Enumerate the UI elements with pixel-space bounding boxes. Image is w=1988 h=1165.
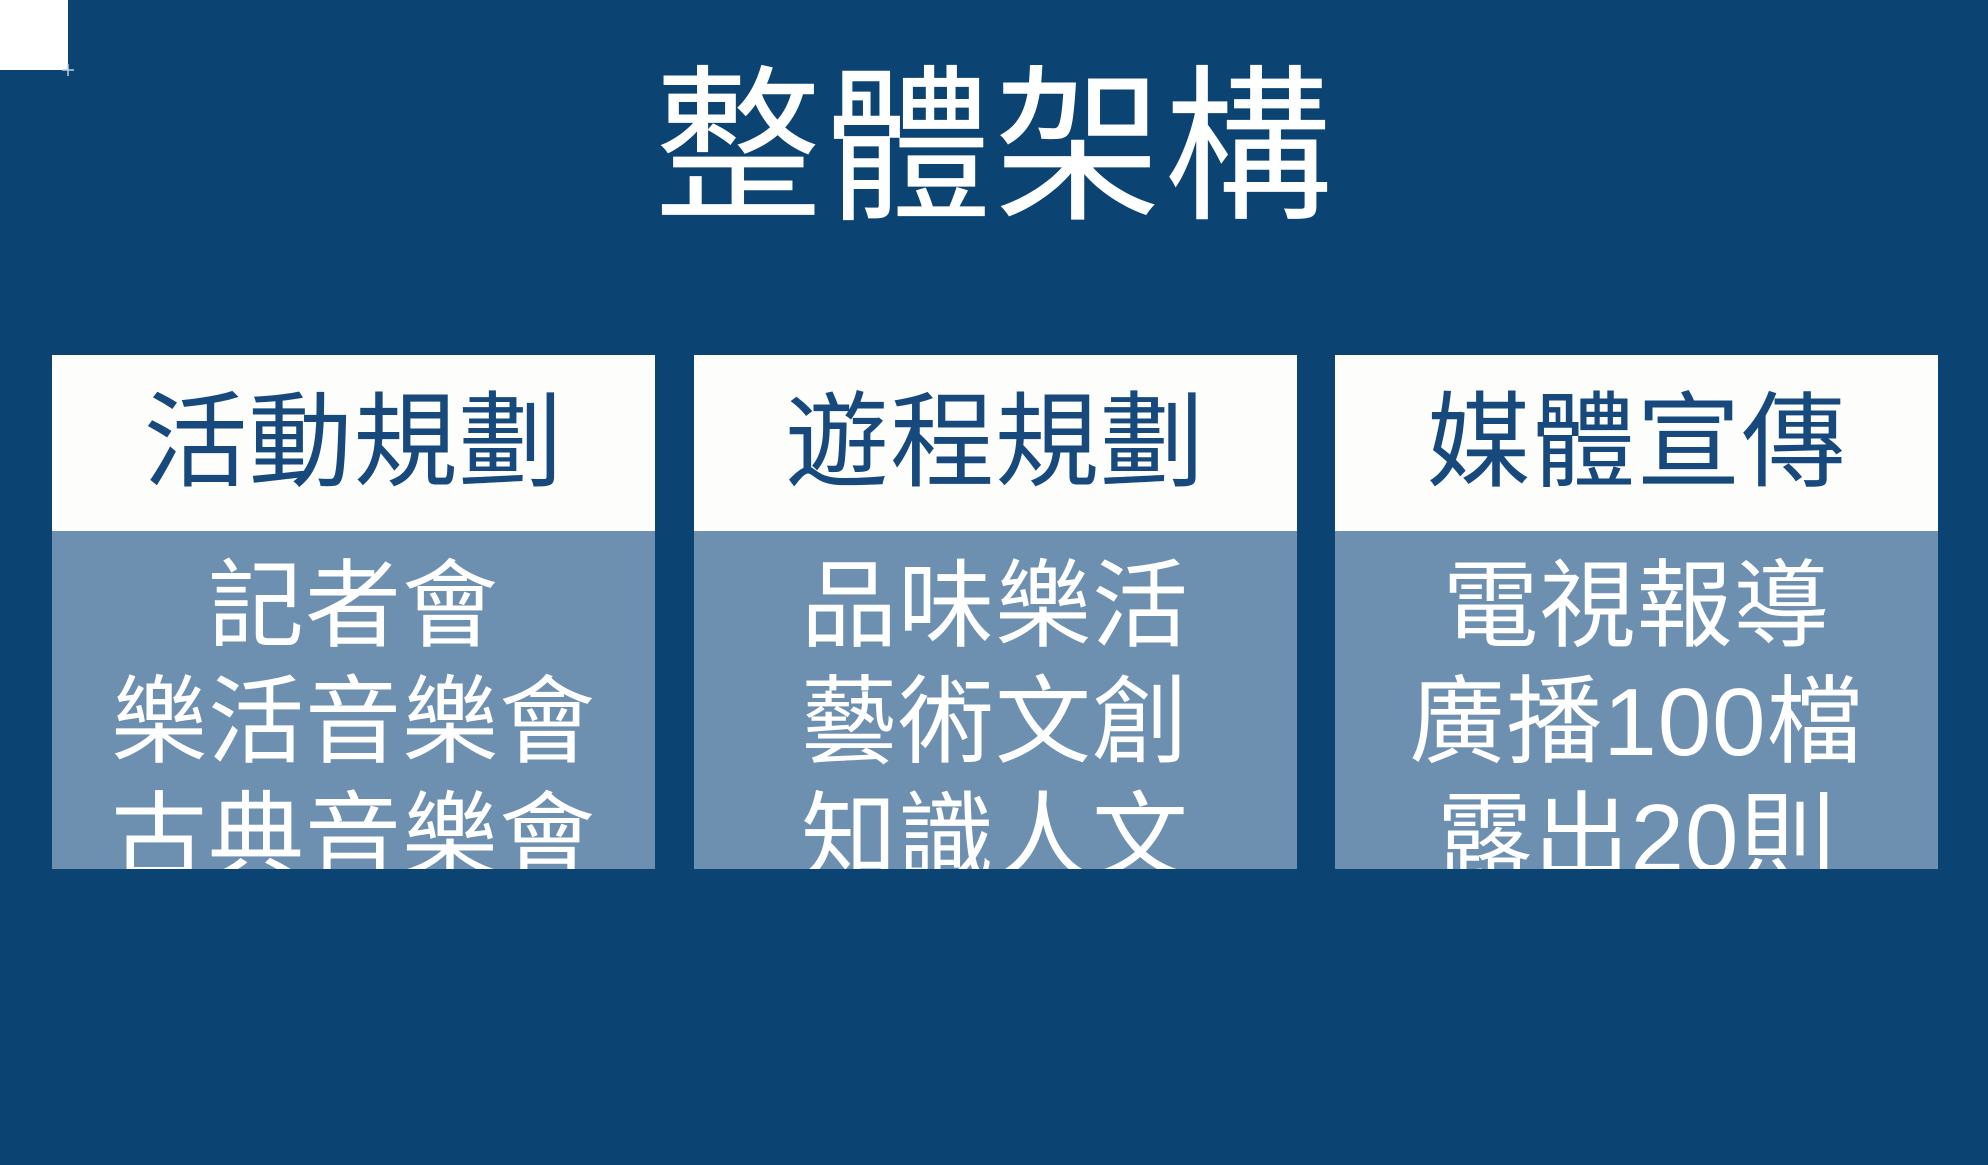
card-header-activity-planning: 活動規劃: [52, 355, 655, 531]
list-item: 古典音樂會: [111, 781, 596, 869]
card-header-media-promotion: 媒體宣傳: [1335, 355, 1938, 531]
card-activity-planning[interactable]: 活動規劃 記者會 樂活音樂會 古典音樂會: [52, 355, 655, 869]
list-item: 露出20則: [1437, 781, 1837, 869]
card-group: 活動規劃 記者會 樂活音樂會 古典音樂會 遊程規劃 品味樂活 藝術文創 知識人文…: [52, 355, 1938, 869]
list-item: 電視報導: [1443, 549, 1831, 665]
list-item: 廣播100檔: [1409, 665, 1863, 781]
card-header-tour-planning: 遊程規劃: [694, 355, 1297, 531]
page-title: 整體架構: [0, 52, 1988, 245]
list-item: 知識人文: [801, 781, 1189, 869]
card-body-media-promotion: 電視報導 廣播100檔 露出20則: [1335, 531, 1938, 869]
card-tour-planning[interactable]: 遊程規劃 品味樂活 藝術文創 知識人文: [694, 355, 1297, 869]
list-item: 藝術文創: [801, 665, 1189, 781]
slide-canvas: 整體架構 活動規劃 記者會 樂活音樂會 古典音樂會 遊程規劃 品味樂活 藝術文創…: [0, 0, 1988, 1165]
list-item: 品味樂活: [801, 549, 1189, 665]
card-body-tour-planning: 品味樂活 藝術文創 知識人文: [694, 531, 1297, 869]
list-item: 樂活音樂會: [111, 665, 596, 781]
list-item: 記者會: [208, 549, 499, 665]
card-media-promotion[interactable]: 媒體宣傳 電視報導 廣播100檔 露出20則: [1335, 355, 1938, 869]
card-body-activity-planning: 記者會 樂活音樂會 古典音樂會: [52, 531, 655, 869]
